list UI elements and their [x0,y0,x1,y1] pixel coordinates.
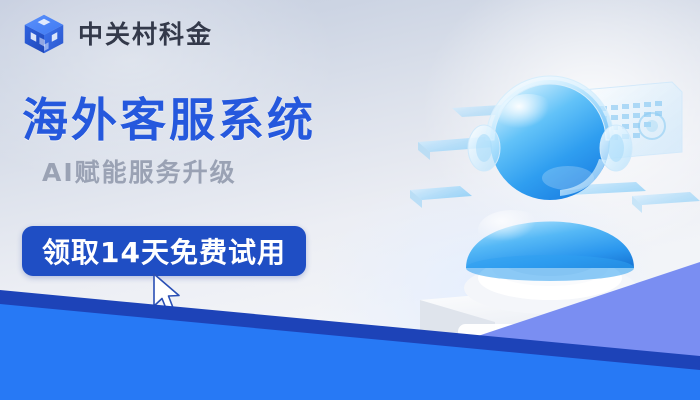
brand-name: 中关村科金 [78,22,213,47]
hero-artwork [400,0,700,400]
promo-banner: 中关村科金 海外客服系统 AI赋能服务升级 领取14天免费试用 [0,0,700,400]
free-trial-cta-button[interactable]: 领取14天免费试用 [22,226,306,276]
mouse-pointer-icon [150,272,184,318]
brand-logo[interactable]: 中关村科金 [22,12,213,56]
page-title: 海外客服系统 [22,96,422,146]
background-glow-bottom-right [310,160,670,400]
cube-logo-icon [22,12,66,56]
page-subtitle: AI赋能服务升级 [42,160,422,185]
periwinkle-ribbon [330,262,700,400]
podium-icon [420,248,700,368]
bright-blue-ribbon [0,304,700,400]
dark-navy-ribbon [0,290,700,372]
floating-bar-icon [560,182,700,213]
bottom-ribbons [0,260,700,400]
data-panel-icon [582,82,682,160]
headset-avatar-icon [466,76,634,281]
background-glow-top-right [420,0,700,260]
hero-copy: 海外客服系统 AI赋能服务升级 [22,96,422,185]
floating-bar-icon [410,104,528,208]
